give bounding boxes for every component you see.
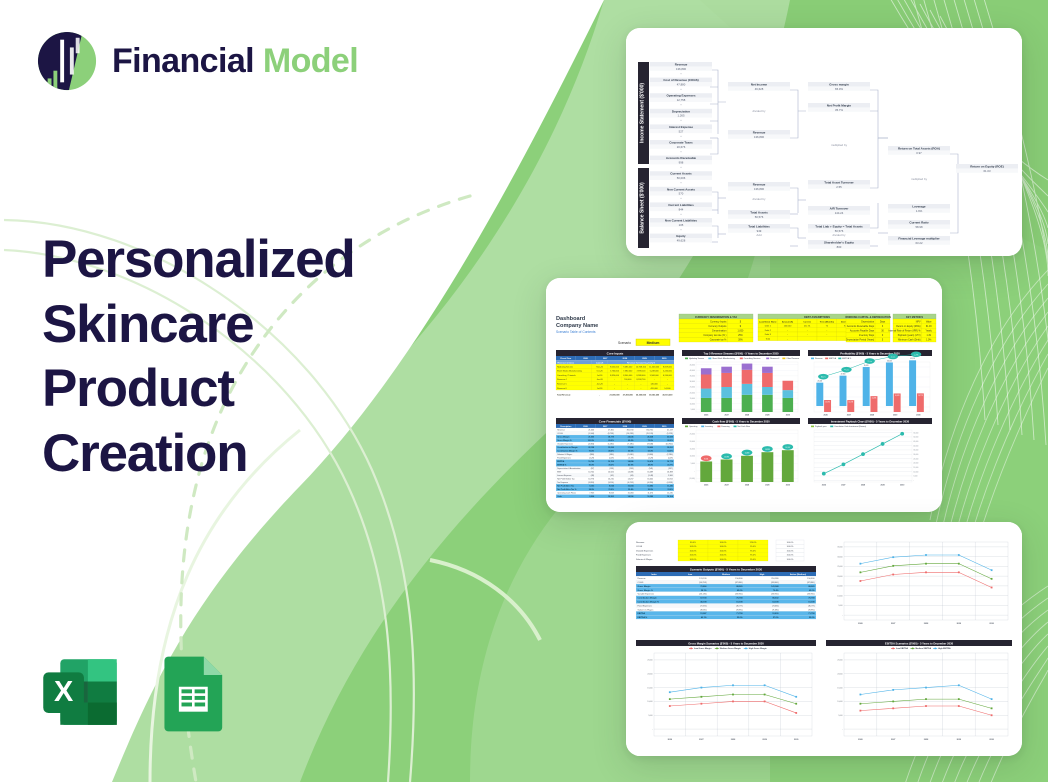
core-fin-cell-10-0: EBITDA % bbox=[557, 464, 566, 467]
scenario-trend-chart-plot-bg bbox=[844, 542, 1008, 620]
core-fin-cell-7-1: (880) bbox=[590, 454, 595, 456]
dupont-col1-cell-1-label: Cost of Revenue (COGS) bbox=[663, 78, 698, 82]
dupont-col1-cell-7-value: 50,006 bbox=[677, 176, 686, 180]
scenario-outputs-row-10-bg bbox=[636, 615, 816, 619]
panel-2-title: WORKING CAPITAL & DEPRECIATION bbox=[845, 316, 891, 319]
scenario-trend-chart-ytick-5: 10,000 bbox=[837, 595, 842, 597]
chart-cash-bar-2 bbox=[741, 456, 753, 482]
core-fin-cell-7-2: (980) bbox=[609, 454, 614, 456]
core-inputs-cell-0-1: Nov-26 bbox=[596, 366, 603, 368]
dupont-col4-cell-0-value: 0.97 bbox=[916, 151, 922, 155]
microsoft-excel-icon: X bbox=[38, 650, 122, 734]
core-fin-cell-14-0: Net Profit Before Tax bbox=[557, 478, 574, 481]
gross-margin-scenarios-chart-ytick-1: 20,000 bbox=[647, 673, 652, 675]
brand-name-part1: Financial bbox=[112, 42, 254, 80]
supported-apps: X bbox=[38, 650, 234, 734]
ebitda-scenarios-chart-s0-pt4 bbox=[991, 698, 993, 700]
core-fin-cell-8-5: (1,29) bbox=[668, 458, 673, 460]
core-fin-cell-15-0: Tax Expense bbox=[557, 482, 568, 484]
core-fin-cell-6-5: 54.0% bbox=[667, 450, 673, 453]
scenario-outputs-cell-2-4: 88,920 bbox=[808, 586, 815, 588]
ebitda-scenarios-chart-s2-pt0 bbox=[860, 710, 862, 712]
core-fin-row-0-bg bbox=[556, 428, 674, 432]
core-fin-cell-5-0: Contribution to Margin bbox=[557, 446, 578, 449]
scenario-input-cell-0-2: 120.0% bbox=[750, 542, 757, 544]
chart-top5-xtick-3: 2029 bbox=[765, 414, 769, 416]
chart-payback-legend-0-swatch bbox=[811, 426, 814, 428]
ebitda-scenarios-chart-legend-0-marker bbox=[892, 648, 894, 650]
brand-wordmark: Financial Model bbox=[112, 44, 358, 78]
core-fin-row-19-bg bbox=[556, 495, 674, 499]
scenario-outputs-cell-8-4: (9,890) bbox=[808, 609, 815, 611]
chart-profit-legend-2-swatch bbox=[838, 358, 841, 360]
scenario-outputs-cell-7-4: (8,077) bbox=[808, 605, 815, 607]
chart-profit-legend-0-swatch bbox=[811, 358, 814, 360]
core-fin-row-8-bg bbox=[556, 456, 674, 460]
chart-top5-xtick-1: 2027 bbox=[724, 414, 728, 416]
left-content-column: Financial Model Personalized Skincare Pr… bbox=[0, 0, 470, 782]
chart-top5-title: Top 5 Revenue Streams ($'000) - 5 Years … bbox=[704, 351, 779, 355]
core-fin-cell-4-3: (7,180) bbox=[627, 444, 633, 446]
chart-profit-legend-1-label: EBITDA bbox=[829, 357, 837, 360]
gross-margin-scenarios-chart-legend-0-marker bbox=[690, 648, 692, 650]
core-fin-cell-12-3: 14,086 bbox=[628, 472, 634, 474]
core-inputs-cell-3-4: 8,998,700 bbox=[637, 379, 647, 381]
scenario-outputs-cell-10-3: 57.0% bbox=[773, 617, 779, 619]
scenario-trend-chart-s1-pt3 bbox=[958, 563, 960, 565]
scenario-outputs-row-9-bg bbox=[636, 611, 816, 615]
ebitda-scenarios-chart-s0-pt2 bbox=[925, 687, 927, 689]
panel-3-row-3-value: 1.49 bbox=[926, 335, 931, 337]
ebitda-scenarios-chart-legend-1-marker bbox=[912, 648, 914, 650]
core-fin-cell-0-2: 27,300 bbox=[608, 430, 614, 432]
scenario-trend-chart-ytick-4: 15,000 bbox=[837, 586, 842, 588]
chart-cash-bubble-label-0: 8,904 bbox=[704, 458, 708, 460]
core-fin-cell-15-5: (4,558) bbox=[667, 482, 673, 484]
gross-margin-scenarios-chart-legend-1-marker bbox=[716, 648, 718, 650]
scenario-outputs-row-0-bg bbox=[636, 576, 816, 580]
scenario-outputs-cell-8-0: Salaries & Wages bbox=[638, 609, 654, 611]
google-sheets-icon bbox=[150, 650, 234, 734]
core-fin-cell-2-1: 21,000 bbox=[588, 437, 594, 439]
core-fin-cell-11-4: (541) bbox=[649, 468, 654, 470]
core-inputs-total-4: 35,300,000 bbox=[636, 395, 647, 397]
core-fin-cell-10-5: 41.7% bbox=[667, 464, 673, 467]
chart-top5-bar-1-2 bbox=[721, 373, 732, 387]
chart-payback-ytick-9: 45,000 bbox=[913, 441, 918, 443]
core-fin-cell-8-0: Fixed Expenses bbox=[557, 458, 571, 460]
panel-1-cell-0-2: Dec 31 bbox=[804, 326, 811, 328]
scenario-outputs-row-4-bg bbox=[636, 592, 816, 596]
chart-payback-ytick-1: 5,000 bbox=[913, 476, 917, 478]
chart-cash-bar-3 bbox=[761, 452, 773, 482]
gross-margin-scenarios-chart-s0-pt3 bbox=[764, 684, 766, 686]
panel-3-row-4-label: Minimum Cash (Debt) bbox=[898, 339, 921, 342]
chart-profit-xtick-3: 2029 bbox=[893, 414, 897, 416]
dupont-col1-cell-0-value: 136,800 bbox=[676, 67, 687, 71]
scenario-outputs-cell-4-4: (33,960) bbox=[807, 594, 815, 596]
chart-top5-xtick-4: 2030 bbox=[786, 414, 790, 416]
gross-margin-scenarios-chart-title: Gross Margin Scenarios ($'000) - 5 Years… bbox=[688, 641, 764, 645]
core-fin-cell-11-3: (198) bbox=[629, 468, 634, 470]
core-inputs-cell-2-0: Consulting / Tutorials bbox=[557, 374, 576, 377]
panel-3-row-4-value: 1.0% bbox=[926, 340, 931, 342]
core-fin-cell-7-5: (2,280) bbox=[667, 454, 673, 456]
scenario-trend-chart-s2-pt1 bbox=[892, 574, 894, 576]
core-fin-cell-4-1: (4,084) bbox=[588, 444, 594, 446]
scenario-input-row-0-label: Revenue bbox=[636, 542, 645, 544]
panel-2-row-2-label: Accounts Payable Days bbox=[850, 330, 875, 333]
scenario-trend-chart-ytick-3: 20,000 bbox=[837, 576, 842, 578]
chart-top5-bar-2-1 bbox=[742, 384, 753, 395]
ebitda-scenarios-chart-s1-pt0 bbox=[860, 703, 862, 705]
core-fin-cell-10-1: 80.0% bbox=[589, 465, 595, 467]
gross-margin-scenarios-chart-ytick-0: 25,000 bbox=[647, 660, 652, 662]
scenario-outputs-cell-6-0: Contribution Margin % bbox=[638, 601, 660, 604]
gross-margin-scenarios-chart-s2-pt2 bbox=[732, 701, 734, 703]
scenario-input-cell-2-2: 95.0% bbox=[750, 550, 756, 552]
panel-1-cell-3-0: Total bbox=[766, 337, 771, 340]
core-inputs-cell-1-1: Oct-26 bbox=[597, 370, 604, 373]
core-fin-cell-13-1: (48) bbox=[591, 475, 595, 477]
scenario-outputs-cell-1-3: (85,860) bbox=[771, 582, 779, 584]
scenario-input-actual-1: 100.0% bbox=[787, 546, 794, 548]
panel-3-row-0-label: NPV bbox=[916, 321, 921, 323]
scenario-outputs-cell-7-3: (7,682) bbox=[772, 605, 779, 607]
chart-profit-legend-1-swatch bbox=[825, 358, 828, 360]
core-fin-cell-14-1: 10,776 bbox=[588, 479, 594, 481]
ebitda-scenarios-chart-plot-bg bbox=[844, 653, 1008, 736]
core-fin-cell-4-5: (10,900) bbox=[666, 444, 673, 446]
scenario-trend-chart-s0-pt0 bbox=[860, 563, 862, 565]
chart-profit-xtick-1: 2027 bbox=[847, 414, 851, 416]
core-inputs-cell-4-5: 140,000 bbox=[651, 384, 659, 386]
scenario-outputs-cell-2-0: Gross Margin bbox=[638, 586, 652, 588]
dupont-col1-cell-4-label: Interest Expense bbox=[669, 125, 693, 129]
core-inputs-cell-2-6: 6,240,000 bbox=[663, 375, 673, 377]
chart-top5-bar-3-3 bbox=[762, 367, 773, 373]
panel-1-cell-3-3-bg bbox=[817, 336, 837, 340]
chart-top5-legend-0-swatch bbox=[685, 358, 688, 360]
panel-1-cell-0-1: 140,000 bbox=[784, 326, 792, 328]
dupont-col1-cell-0-label: Revenue bbox=[675, 63, 688, 67]
chart-cash-bubble-0 bbox=[701, 455, 712, 461]
chart-profit-xtick-0: 2026 bbox=[823, 414, 827, 416]
dupont-col1-cell-3-label: Depreciation bbox=[672, 109, 690, 113]
core-fin-cell-16-1: 9,103 bbox=[589, 486, 594, 488]
scenario-outputs-cell-4-1: (43,136) bbox=[699, 594, 707, 596]
chart-profit-revenue-bar-1 bbox=[840, 376, 847, 406]
core-fin-cell-0-0: Revenue bbox=[557, 430, 565, 432]
scenario-outputs-row-5-bg bbox=[636, 596, 816, 600]
ebitda-scenarios-chart-s1-pt3 bbox=[958, 698, 960, 700]
chart-payback-xtick-4: 2030 bbox=[900, 484, 904, 486]
scenario-outputs-cell-3-1: 58.1% bbox=[701, 590, 707, 592]
core-fin-cell-16-4: 10,682 bbox=[647, 486, 653, 488]
chart-top5-bar-4-2 bbox=[782, 381, 793, 390]
core-fin-cell-17-0: Net Profit After Tax % bbox=[557, 488, 577, 491]
chart-top5-bar-3-1 bbox=[762, 387, 773, 395]
scenario-outputs-row-3-bg bbox=[636, 588, 816, 592]
panel-0-title: CURRENCY DENOMINATION & TAX bbox=[695, 316, 738, 319]
core-fin-cell-10-3: 40.9% bbox=[628, 464, 634, 467]
core-fin-cell-18-3: 10,084 bbox=[628, 493, 634, 495]
core-fin-cell-1-2: (8,798) bbox=[608, 433, 614, 435]
financial-dashboard-card[interactable]: Dashboard Company Name Scenario Table of… bbox=[546, 278, 942, 512]
scenario-trend-chart-s0-pt3 bbox=[958, 554, 960, 556]
chart-top5-ytick-3: 30,000 bbox=[690, 381, 695, 383]
chart-profit-ebitda-label-3: 16,678 bbox=[895, 395, 900, 397]
chart-cash-bubble-2 bbox=[742, 450, 753, 456]
core-inputs-cell-1-4: 7,398,100 bbox=[637, 371, 647, 373]
scenario-outputs-cell-4-2: (33,960) bbox=[735, 594, 743, 596]
core-fin-cell-14-4: 16,042 bbox=[647, 479, 653, 481]
core-fin-cell-7-4: (1,680) bbox=[647, 454, 653, 456]
core-fin-cell-6-1: 70.5% bbox=[589, 451, 595, 453]
scenario-outputs-cell-8-3: (9,180) bbox=[772, 609, 779, 611]
core-fin-cell-12-1: 10,702 bbox=[588, 472, 594, 474]
core-fin-row-4-bg bbox=[556, 442, 674, 446]
svg-text:X: X bbox=[54, 676, 73, 708]
scenario-outputs-row-8-bg bbox=[636, 607, 816, 611]
svg-text:Dashboard: Dashboard bbox=[556, 316, 586, 322]
chart-top5-legend-1-swatch bbox=[708, 358, 711, 360]
scenario-input-actual-0: 100.0% bbox=[787, 542, 794, 544]
chart-cash-ytick-1: 20,000 bbox=[690, 441, 695, 443]
ebitda-scenarios-chart-ytick-2: 15,000 bbox=[837, 687, 842, 689]
chart-top5-legend-3-label: Revenue 4 bbox=[770, 358, 779, 360]
core-fin-cell-13-4: (5,48) bbox=[648, 475, 653, 477]
core-inputs-cell-1-2: 5,760,000 bbox=[610, 371, 620, 373]
panel-1-cell-1-0: Debt 2 bbox=[765, 329, 772, 332]
core-fin-cell-17-5: 33.0% bbox=[667, 489, 673, 491]
panel-1-head-1: Amount ($) bbox=[782, 320, 793, 323]
scenario-outputs-cell-3-3: 70.4% bbox=[773, 589, 779, 592]
chart-top5-bar-1-1 bbox=[721, 387, 732, 398]
core-fin-cell-8-3: (1,29) bbox=[629, 458, 634, 460]
chart-payback-legend-0-label: Payback year bbox=[815, 425, 827, 428]
dupont-col1-cell-8-label: Non Current Assets bbox=[667, 187, 695, 191]
scenario-outputs-cell-6-2: 51,198 bbox=[736, 602, 743, 604]
chart-profit-revenue-bar-2 bbox=[863, 367, 870, 406]
scenario-outputs-cell-4-0: Variable Expenses bbox=[638, 594, 655, 596]
core-inputs-cell-1-3: 7,380,000 bbox=[623, 371, 633, 373]
panel-0-row-2-value: 1,000 bbox=[738, 331, 744, 333]
chart-cash-ytick-4: 5,000 bbox=[691, 463, 695, 465]
scenario-outputs-cell-5-2: 76,758 bbox=[736, 598, 743, 600]
panel-0-row-1-label: Currency Outputs bbox=[708, 325, 727, 328]
core-fin-cell-13-5: 9,300 bbox=[668, 475, 673, 477]
scenario-input-cell-4-1: 100.0% bbox=[720, 559, 727, 561]
chart-payback-point-0 bbox=[822, 472, 826, 476]
panel-3-row-3-label: Payback (years) (LTV) bbox=[898, 334, 921, 337]
ebitda-scenarios-chart-ytick-0: 25,000 bbox=[837, 660, 842, 662]
scenario-trend-chart-ytick-0: 35,000 bbox=[837, 547, 842, 549]
chart-profit-ebitda-label-0: 10,790 bbox=[825, 401, 830, 403]
chart-top5-bar-0-3 bbox=[701, 368, 712, 374]
panel-1-title: DEBT ASSUMPTIONS bbox=[804, 316, 830, 319]
scenario-outputs-head-4: Active (Medium) bbox=[790, 573, 806, 576]
core-fin-cell-17-4: 36.0% bbox=[648, 489, 654, 491]
gross-margin-scenarios-chart-s0-pt0 bbox=[669, 691, 671, 693]
core-fin-cell-16-0: Net Profit After Tax bbox=[557, 485, 575, 488]
core-fin-row-15-bg bbox=[556, 481, 674, 485]
gross-margin-scenarios-chart-s1-pt4 bbox=[795, 703, 797, 705]
chart-payback-xtick-1: 2027 bbox=[841, 484, 845, 486]
core-fin-cell-2-0: Gross Margin bbox=[557, 437, 570, 439]
dupont-col1-cell-7-label: Current Assets bbox=[670, 172, 692, 176]
scenario-input-row-3-label: Fixed Expenses bbox=[636, 555, 651, 557]
scenario-outputs-cell-4-3: (33,960) bbox=[771, 594, 779, 596]
gross-margin-scenarios-chart-s1-pt0 bbox=[669, 698, 671, 700]
chart-profit-ebitda-label-4: 16,778 bbox=[918, 395, 923, 397]
scenario-outputs-cell-1-0: COGS bbox=[638, 582, 645, 584]
ebitda-scenarios-chart-s1-pt2 bbox=[925, 698, 927, 700]
core-inputs-cell-1-5: 5,248,000 bbox=[650, 371, 660, 373]
scenario-trend-chart-s1-pt2 bbox=[925, 563, 927, 565]
dupont-operator-1: divided by bbox=[752, 197, 766, 201]
scenario-input-actual-2: 100.0% bbox=[787, 550, 794, 552]
scenario-analysis-card[interactable]: Revenue80.0%100.0%120.0%100.0%COGS105.0%… bbox=[626, 522, 1022, 756]
dupont-col1-cell-9-value: 844 bbox=[679, 207, 684, 211]
core-inputs-cell-4-1: Jan-26 bbox=[597, 384, 604, 386]
core-fin-cell-2-5: 33,088 bbox=[667, 437, 673, 439]
dupont-col1-cell-5-value: 20,676 bbox=[677, 145, 686, 149]
chart-top5-bar-0-2 bbox=[701, 375, 712, 389]
core-fin-cell-14-5: 11,812 bbox=[667, 479, 673, 481]
chart-cash-bar-1 bbox=[721, 459, 733, 482]
chart-profit-revenue-label-3: 39,163 bbox=[887, 360, 892, 362]
chart-payback-ytick-5: 25,000 bbox=[913, 458, 918, 460]
ebitda-scenarios-chart-s0-pt3 bbox=[958, 684, 960, 686]
gross-margin-scenarios-chart-s1-pt3 bbox=[764, 694, 766, 696]
gross-margin-scenarios-chart-s0-pt1 bbox=[701, 687, 703, 689]
chart-payback-xtick-0: 2026 bbox=[822, 484, 826, 486]
scenario-outputs-cell-7-1: (7,592) bbox=[700, 605, 707, 607]
core-inputs-cell-2-5: 9,568,000 bbox=[650, 375, 660, 377]
scenario-input-cell-3-1: 100.0% bbox=[720, 555, 727, 557]
core-fin-cell-1-0: COGS bbox=[557, 433, 563, 435]
scenario-outputs-cell-8-1: (8,845) bbox=[700, 609, 707, 611]
core-inputs-title: Core Inputs bbox=[607, 351, 624, 355]
chart-profit-revenue-bar-0 bbox=[816, 383, 823, 406]
gross-margin-scenarios-chart-ytick-3: 10,000 bbox=[647, 701, 652, 703]
chart-payback-ytick-6: 30,000 bbox=[913, 454, 918, 456]
chart-top5-xtick-2: 2028 bbox=[745, 414, 749, 416]
core-fin-cell-9-4: 16,678 bbox=[647, 461, 653, 463]
core-fin-cell-6-4: 53.0% bbox=[648, 451, 654, 453]
gross-margin-scenarios-chart-s1-pt2 bbox=[732, 694, 734, 696]
chart-payback-legend-1-swatch bbox=[830, 426, 833, 428]
chart-payback-legend-1-label: Cumulative Cash Investment (Source) bbox=[834, 425, 866, 428]
dupont-col4-cell-0-label: Return on Total Assets (ROA) bbox=[898, 147, 940, 151]
scenario-outputs-cell-10-0: EBITDA % bbox=[638, 616, 648, 619]
dupont-col5-cell-0-label: Return on Equity (ROE) bbox=[970, 165, 1004, 169]
chart-top5-legend-4-label: Other Revenue bbox=[786, 357, 799, 360]
ebitda-scenarios-chart-s0-pt0 bbox=[860, 694, 862, 696]
scenario-trend-chart-s1-pt4 bbox=[991, 578, 993, 580]
scenario-outputs-cell-0-1: 131,130 bbox=[699, 578, 707, 580]
dupont-col2-cell-0-value: 46,628 bbox=[755, 87, 764, 91]
chart-cash-bubble-label-2: 14,306 bbox=[745, 453, 750, 455]
scenario-outputs-cell-2-3: 141,348 bbox=[771, 585, 779, 588]
chart-top5-ytick-7: 10,000 bbox=[690, 403, 695, 405]
core-fin-cell-0-5: 41,119 bbox=[667, 430, 673, 432]
core-fin-cell-1-5: (9,128) bbox=[667, 433, 673, 435]
ebitda-scenarios-chart-ytick-4: 5,000 bbox=[838, 715, 842, 717]
scenario-trend-chart-s2-pt3 bbox=[958, 571, 960, 573]
core-inputs-cell-0-3: 9,085,000 bbox=[623, 366, 633, 368]
chart-payback-ytick-8: 40,000 bbox=[913, 445, 918, 447]
scenario-outputs-cell-7-0: Fixed Expenses bbox=[638, 605, 652, 607]
chart-top5-bar-2-0 bbox=[742, 395, 753, 412]
dupont-col2-cell-4-label: Total Liabilities bbox=[748, 225, 770, 229]
dupont-col1-cell-9-label: Current Liabilities bbox=[668, 203, 694, 207]
core-fin-cell-8-1: (1,29) bbox=[589, 458, 594, 460]
chart-cash-bar-4 bbox=[782, 450, 794, 482]
panel-3-row-1-value: 61.03 bbox=[926, 326, 932, 328]
scenario-trend-chart-ytick-1: 30,000 bbox=[837, 556, 842, 558]
chart-cash-xtick-1: 2027 bbox=[724, 484, 728, 486]
scenario-outputs-cell-5-0: Contribution Margin bbox=[638, 597, 658, 600]
scenario-outputs-cell-6-1: 46,198 bbox=[700, 601, 707, 604]
dupont-col4-cell-1-label: Leverage bbox=[912, 205, 926, 209]
scenario-trend-chart-s0-pt2 bbox=[925, 554, 927, 556]
scenario-trend-chart-s1-pt1 bbox=[892, 565, 894, 567]
chart-profit-revenue-label-0: 21,000 bbox=[818, 380, 823, 382]
ebitda-scenarios-chart-ytick-3: 10,000 bbox=[837, 701, 842, 703]
scenario-outputs-cell-3-0: Gross Margin % bbox=[638, 590, 653, 592]
core-fin-cell-5-1: 22,128 bbox=[588, 447, 594, 449]
core-fin-cell-18-5: 12,240 bbox=[667, 493, 673, 495]
scenario-trend-chart-s2-pt0 bbox=[860, 580, 862, 582]
chart-cash-legend-1-label: Investing bbox=[705, 425, 713, 428]
gross-margin-scenarios-chart-legend-2-label: High Gross Margin bbox=[749, 648, 768, 650]
gross-margin-scenarios-chart-legend-0-label: Low Gross Margin bbox=[694, 648, 712, 650]
svg-text:Company Name: Company Name bbox=[556, 323, 598, 329]
core-fin-cell-1-4: (15,139) bbox=[646, 433, 653, 435]
core-fin-cell-11-2: (198) bbox=[609, 468, 614, 470]
gross-margin-scenarios-chart-s2-pt3 bbox=[764, 701, 766, 703]
dupont-col3-cell-2-label: Total Asset Turnover bbox=[824, 181, 854, 185]
chart-top5-ytick-5: 20,000 bbox=[690, 392, 695, 394]
scenario-outputs-cell-10-4: 52.0% bbox=[809, 617, 815, 619]
chart-cash-ytick-3: 10,000 bbox=[690, 456, 695, 458]
core-inputs-total-5: 39,163,200 bbox=[649, 395, 660, 397]
gross-margin-scenarios-chart-s0-pt4 bbox=[795, 696, 797, 698]
dupont-operator-5: multiplied by bbox=[911, 177, 928, 181]
chart-payback-ytick-2: 10,000 bbox=[913, 471, 918, 473]
dupont-ratio-tree-card[interactable]: Income Statement ($'000) Balance Sheet (… bbox=[626, 28, 1022, 256]
scenario-outputs-cell-7-2: (8,077) bbox=[736, 605, 743, 607]
chart-profit-revenue-bar-3 bbox=[886, 362, 893, 406]
chart-cash-bubble-3 bbox=[762, 446, 773, 452]
core-fin-cell-2-4: 26,338 bbox=[647, 437, 653, 439]
ebitda-scenarios-chart-ytick-1: 20,000 bbox=[837, 673, 842, 675]
ebitda-scenarios-chart-s1-pt1 bbox=[892, 701, 894, 703]
core-fin-cell-13-0: Interest Expense bbox=[557, 474, 571, 477]
chart-top5-bar-4-1 bbox=[782, 390, 793, 398]
scenario-input-actual-3: 100.0% bbox=[787, 555, 794, 557]
scenario-outputs-cell-0-2: 156,800 bbox=[735, 578, 743, 580]
chart-top5-bar-3-0 bbox=[762, 395, 773, 412]
dupont-operator-3: multiplied by bbox=[831, 143, 848, 147]
chart-top5-bar-2-3 bbox=[742, 364, 753, 370]
chart-top5-ytick-4: 25,000 bbox=[690, 387, 695, 389]
core-fin-cell-11-5: (397) bbox=[668, 468, 673, 470]
panel-1-cell-2-0: Debt 3 bbox=[765, 333, 772, 336]
core-inputs-cell-3-1: Jan-26 bbox=[597, 379, 604, 381]
